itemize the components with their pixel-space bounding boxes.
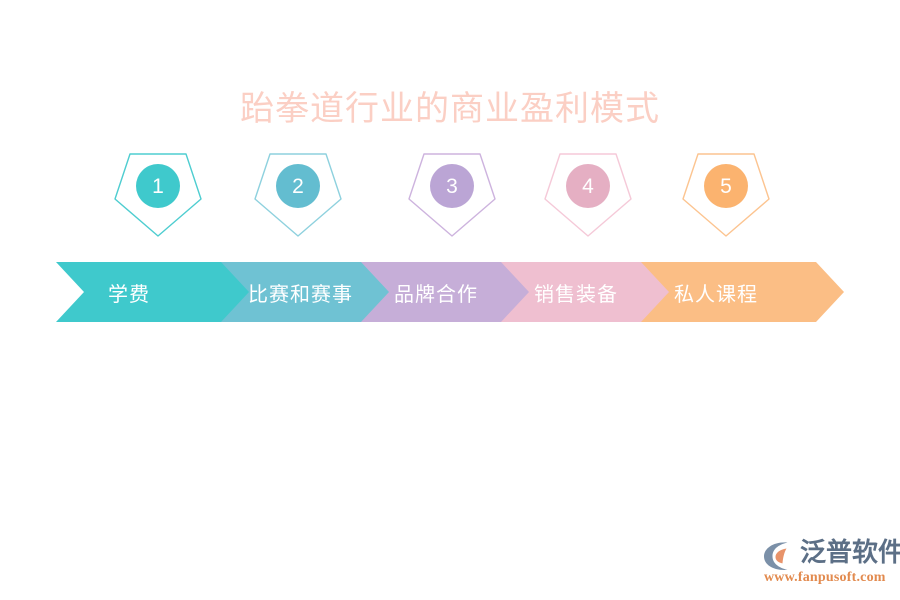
step-number-badge: 4 <box>566 164 610 208</box>
arrow-step-label: 品牌合作 <box>394 262 478 322</box>
step-number-badge: 3 <box>430 164 474 208</box>
pentagon-step-4[interactable]: 4 <box>543 152 633 238</box>
pentagon-step-3[interactable]: 3 <box>407 152 497 238</box>
step-number-badge: 5 <box>704 164 748 208</box>
fanpu-logo-icon <box>762 540 798 572</box>
logo-wordmark: 泛普软件 <box>800 536 900 568</box>
pentagon-step-1[interactable]: 1 <box>113 152 203 238</box>
arrow-step-label: 比赛和赛事 <box>248 262 353 322</box>
arrow-step-label: 销售装备 <box>534 262 618 322</box>
slide-canvas: 跆拳道行业的商业盈利模式 12345 学费比赛和赛事品牌合作销售装备私人课程 泛… <box>0 0 900 600</box>
arrow-step-label: 私人课程 <box>674 262 758 322</box>
pentagon-step-5[interactable]: 5 <box>681 152 771 238</box>
step-number-badge: 1 <box>136 164 180 208</box>
page-title: 跆拳道行业的商业盈利模式 <box>0 86 900 132</box>
pentagon-step-2[interactable]: 2 <box>253 152 343 238</box>
arrow-step-1[interactable]: 学费 <box>56 262 249 322</box>
logo-url: www.fanpusoft.com <box>764 569 886 586</box>
pentagon-number-row: 12345 <box>0 152 900 242</box>
arrow-process-band: 学费比赛和赛事品牌合作销售装备私人课程 <box>0 262 900 322</box>
chevron-arrow-icon <box>56 262 249 322</box>
step-number-badge: 2 <box>276 164 320 208</box>
arrow-step-label: 学费 <box>108 262 150 322</box>
brand-logo: 泛普软件 www.fanpusoft.com <box>762 536 894 588</box>
